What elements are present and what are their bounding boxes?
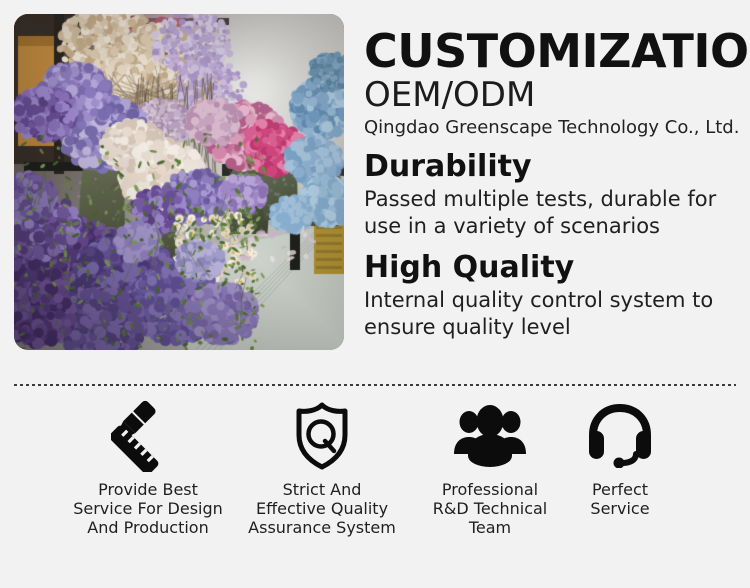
page-title: CUSTOMIZATION bbox=[364, 28, 750, 75]
hero-section: CUSTOMIZATION OEM/ODM Qingdao Greenscape… bbox=[0, 0, 750, 365]
hero-feature-description: Internal quality control system to ensur… bbox=[364, 287, 724, 341]
hero-feature-durability: Durability Passed multiple tests, durabl… bbox=[364, 150, 740, 240]
hero-text-column: CUSTOMIZATION OEM/ODM Qingdao Greenscape… bbox=[364, 0, 740, 365]
service-highlight-support: Perfect Service bbox=[515, 400, 725, 518]
showroom-photo bbox=[14, 14, 344, 350]
hero-feature-title: Durability bbox=[364, 150, 740, 184]
showroom-photo-canvas bbox=[14, 14, 344, 350]
service-highlights-row: Provide Best Service For Design And Prod… bbox=[0, 400, 750, 560]
hero-feature-title: High Quality bbox=[364, 251, 740, 285]
section-divider bbox=[14, 384, 736, 386]
service-highlight-label: Perfect Service bbox=[515, 480, 725, 518]
page-subtitle: OEM/ODM bbox=[364, 78, 535, 114]
hero-feature-high-quality: High Quality Internal quality control sy… bbox=[364, 251, 740, 341]
company-name: Qingdao Greenscape Technology Co., Ltd. bbox=[364, 117, 739, 139]
hero-feature-description: Passed multiple tests, durable for use i… bbox=[364, 186, 724, 240]
headset-support-icon bbox=[515, 400, 725, 472]
